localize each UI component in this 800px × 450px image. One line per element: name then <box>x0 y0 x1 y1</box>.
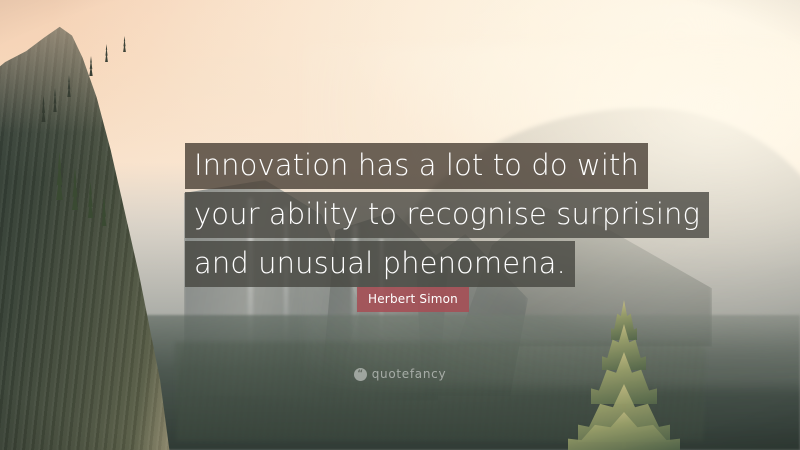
quote-line-2: your ability to recognise surprising <box>185 192 709 238</box>
watermark: “ quotefancy <box>0 367 800 381</box>
quote-poster: Innovation has a lot to do with your abi… <box>0 0 800 450</box>
author-attribution: Herbert Simon <box>357 287 469 312</box>
quote-line-1: Innovation has a lot to do with <box>185 143 648 189</box>
quote-text-block: Innovation has a lot to do with your abi… <box>185 143 625 287</box>
watermark-brand: quotefancy <box>372 367 447 381</box>
quote-line-3: and unusual phenomena. <box>185 241 575 287</box>
quote-mark-icon: “ <box>354 368 367 381</box>
